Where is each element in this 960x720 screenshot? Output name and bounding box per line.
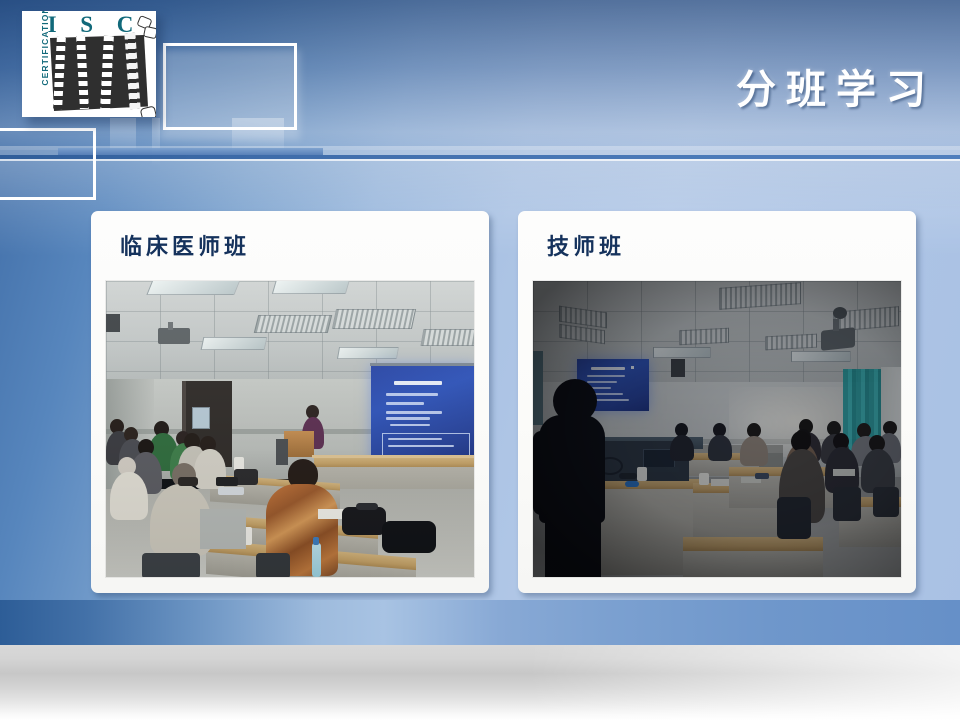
slide: I S C D CERTIFICATION 分班学习 临床医师班: [0, 0, 960, 720]
card-clinician-class[interactable]: 临床医师班: [91, 211, 489, 593]
classroom-photo-clinician: [106, 281, 474, 577]
spine-vertebra: [140, 105, 156, 117]
decorative-frame-large: [163, 43, 297, 130]
footer-gradient: [0, 645, 960, 720]
card-technician-class[interactable]: 技师班: [518, 211, 916, 593]
footer-blue-band: [0, 600, 960, 645]
classroom-photo-technician: [533, 281, 901, 577]
header-rule-highlight: [0, 159, 960, 161]
logo-vertical-text: CERTIFICATION: [40, 11, 50, 89]
page-title: 分班学习: [736, 57, 936, 115]
iscd-logo: I S C D CERTIFICATION: [22, 11, 156, 117]
card-title: 临床医师班: [120, 229, 250, 261]
card-title: 技师班: [547, 229, 625, 261]
decorative-frame-small: [0, 128, 96, 200]
